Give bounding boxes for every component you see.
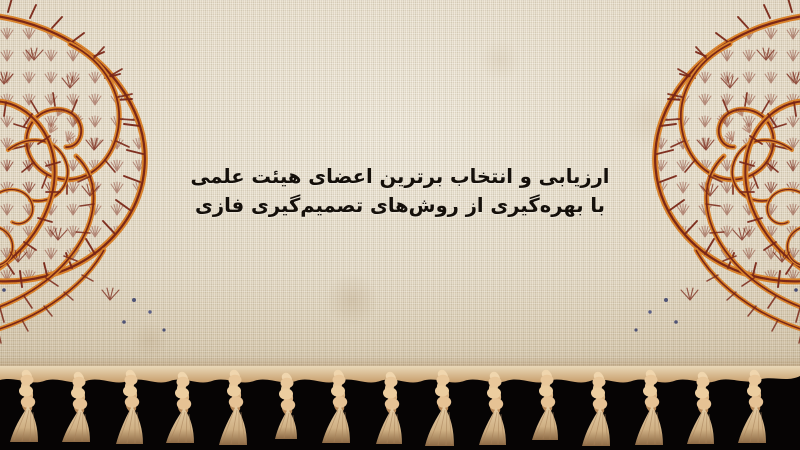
knotted-tassel-fringe [0, 366, 800, 450]
title-line-1: ارزیابی و انتخاب برترین اعضای هیئت علمی [0, 162, 800, 191]
slide-title: ارزیابی و انتخاب برترین اعضای هیئت علمی … [0, 162, 800, 220]
title-line-2: با بهره‌گیری از روش‌های تصمیم‌گیری فازی [0, 191, 800, 220]
title-slide: ارزیابی و انتخاب برترین اعضای هیئت علمی … [0, 0, 800, 450]
